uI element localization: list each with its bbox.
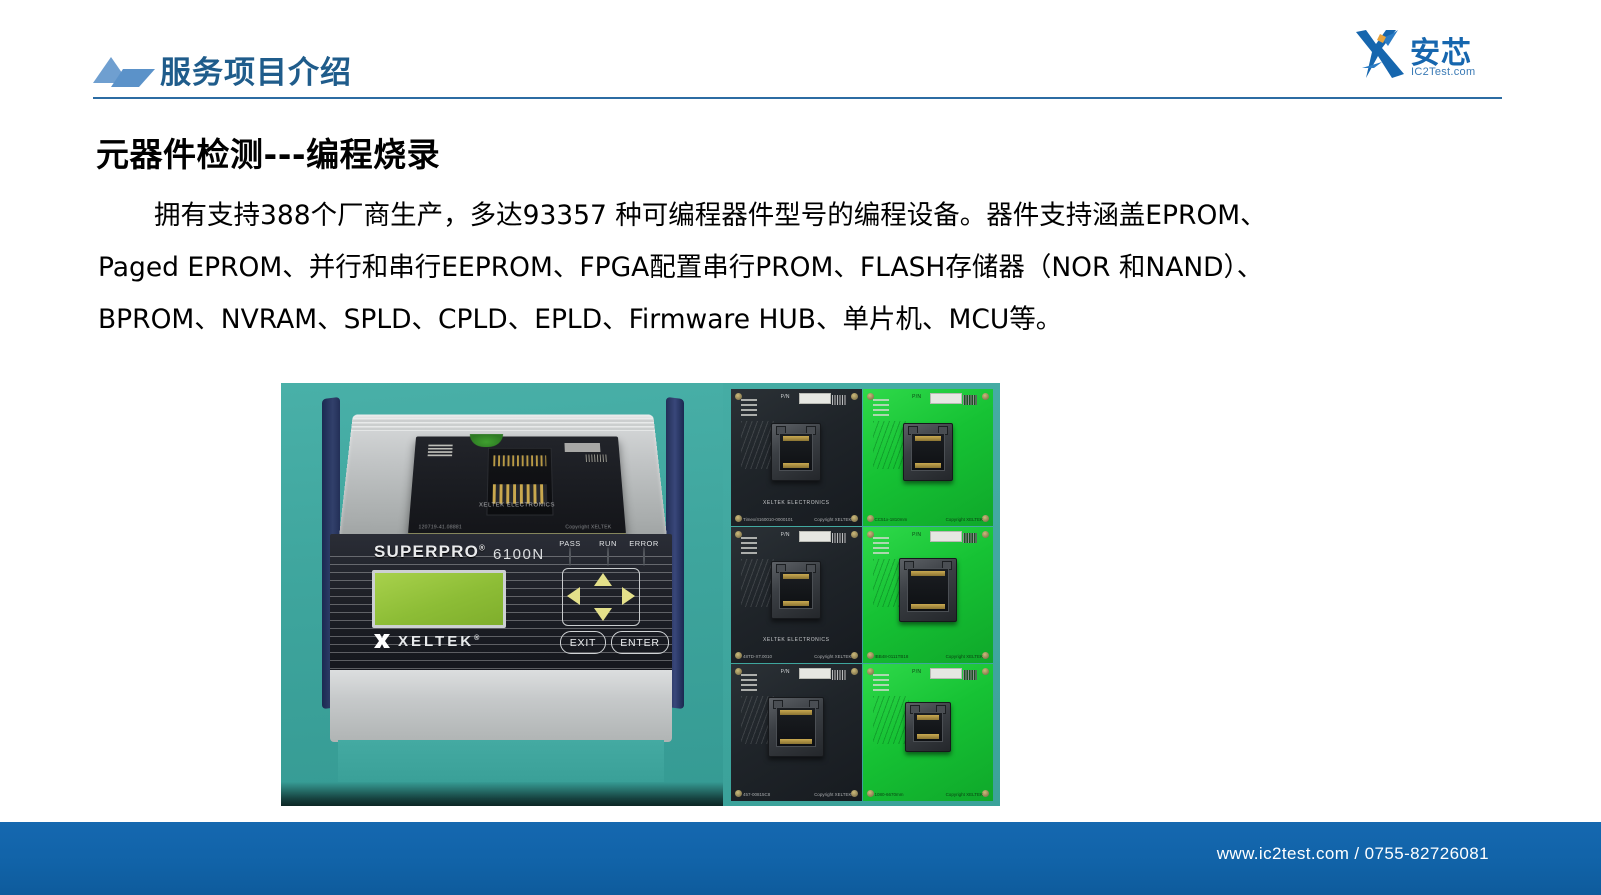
adapter-boards-photo: P/N XELTEK ELECTRONICS Timex/4160010-000…	[723, 383, 1000, 806]
superpro-device: XELTEK ELECTRONICS 120719-41.08881 Copyr…	[308, 396, 694, 796]
device-top-ridges	[351, 418, 655, 431]
board-chip-icon	[832, 395, 846, 405]
mounting-hole-icon	[867, 515, 874, 522]
paragraph-line-1: 拥有支持388个厂商生产，多达93357 种可编程器件型号的编程设备。器件支持涵…	[98, 190, 1498, 242]
board-traces	[873, 696, 909, 744]
company-logo: 安芯 IC2Test.com	[1352, 26, 1487, 88]
adapter-label	[564, 443, 600, 452]
led-run: RUN	[590, 539, 626, 566]
board-foot-right: Copyright XELTEK	[946, 517, 983, 522]
led-pass: PASS	[552, 539, 588, 566]
led-error: ERROR	[626, 539, 662, 566]
board-foot-right: Copyright XELTEK	[946, 792, 983, 797]
socket-cavity	[913, 712, 943, 742]
device-top-adapter-module: XELTEK ELECTRONICS 120719-41.08881 Copyr…	[408, 437, 626, 534]
board-foot-right: Copyright XELTEK	[814, 792, 851, 797]
board-foot-left: CC51x-1810mm	[875, 517, 908, 522]
board-led-strip-icon	[873, 399, 889, 417]
board-pn-label: P/N	[912, 394, 921, 400]
mounting-hole-icon	[982, 652, 989, 659]
mounting-hole-icon	[851, 393, 858, 400]
mounting-hole-icon	[851, 668, 858, 675]
board-pn-sticker	[799, 393, 831, 404]
arrow-right-icon[interactable]	[622, 587, 635, 605]
led-run-dot	[607, 547, 609, 566]
socket-contacts-bottom	[780, 739, 812, 744]
board-led-strip-icon	[741, 537, 757, 555]
board-foot-left: 48TD-XT.0010	[743, 654, 772, 659]
device-maker-logo: XELTEK®	[372, 631, 479, 651]
adapter-copyright: Copyright XELTEK	[565, 525, 611, 531]
arrow-up-icon[interactable]	[594, 573, 612, 586]
logo-domain: IC2Test.com	[1411, 66, 1475, 78]
board-pn-label: P/N	[781, 669, 790, 675]
arrow-left-icon[interactable]	[567, 587, 580, 605]
socket-contacts-top	[911, 571, 945, 576]
socket-contacts-bottom	[783, 463, 809, 468]
board-foot-left: IBB48-0111TB18	[875, 654, 909, 659]
board-chip-icon	[832, 533, 846, 543]
mounting-hole-icon	[851, 652, 858, 659]
device-brand-superscript: ®	[479, 543, 486, 552]
socket-cavity	[907, 568, 949, 612]
adapter-board: P/N XELTEK ELECTRONICS 48TD-XT.0010 Copy…	[731, 527, 862, 664]
board-brand-text: XELTEK ELECTRONICS	[763, 500, 830, 506]
adapter-led-strip-icon	[427, 445, 452, 458]
socket-cavity	[779, 433, 813, 471]
socket-contacts-top	[780, 710, 812, 715]
socket-contacts-bottom	[917, 734, 939, 739]
socket-contacts-top	[917, 715, 939, 720]
adapter-board: P/N CC51x-1810mm Copyright XELTEK	[863, 389, 994, 526]
device-maker-text: XELTEK®	[398, 633, 479, 650]
device-front-panel: SUPERPRO® 6100N PASS RUN ERROR	[330, 534, 672, 672]
device-keypad[interactable]	[562, 568, 640, 626]
programmer-photo: XELTEK ELECTRONICS 120719-41.08881 Copyr…	[281, 383, 723, 806]
board-pn-sticker	[799, 668, 831, 679]
device-model-label: 6100N	[493, 546, 545, 563]
board-led-strip-icon	[873, 537, 889, 555]
board-led-strip-icon	[741, 399, 757, 417]
socket-cavity	[776, 707, 816, 747]
adapter-board-grid: P/N XELTEK ELECTRONICS Timex/4160010-000…	[731, 389, 993, 801]
device-lcd-display	[372, 570, 506, 628]
footer-contact-text: www.ic2test.com / 0755-82726081	[1217, 844, 1489, 864]
board-led-strip-icon	[873, 674, 889, 692]
socket-contacts-top	[915, 436, 941, 441]
mounting-hole-icon	[982, 515, 989, 522]
adapter-chip-icon	[586, 455, 607, 463]
paragraph-line-3: BPROM、NVRAM、SPLD、CPLD、EPLD、Firmware HUB、…	[98, 294, 1498, 346]
exit-button[interactable]: EXIT	[560, 631, 606, 654]
socket-contacts-bottom	[915, 463, 941, 468]
board-pn-sticker	[930, 531, 962, 542]
maker-name: XELTEK	[398, 633, 474, 650]
zif-lever-icon	[469, 434, 503, 447]
mounting-hole-icon	[982, 668, 989, 675]
zif-socket	[905, 702, 951, 752]
adapter-part-number: 120719-41.08881	[418, 525, 462, 531]
page-title: 服务项目介绍	[160, 47, 352, 92]
zif-socket	[899, 558, 957, 622]
board-chip-icon	[832, 670, 846, 680]
board-foot-left: Timex/4160010-0000101	[743, 517, 793, 522]
adapter-brand-text: XELTEK ELECTRONICS	[479, 503, 555, 508]
zif-socket	[768, 697, 824, 757]
board-chip-icon	[963, 533, 977, 543]
board-foot-right: Copyright XELTEK	[946, 654, 983, 659]
led-pass-dot	[569, 547, 571, 566]
mounting-hole-icon	[735, 652, 742, 659]
zif-pins-top	[493, 455, 546, 466]
triangle-arrow-icon	[93, 57, 155, 89]
board-pn-label: P/N	[781, 394, 790, 400]
zif-socket	[903, 423, 953, 481]
photo-bottom-shadow	[281, 782, 723, 806]
slide-footer: www.ic2test.com / 0755-82726081	[0, 822, 1601, 895]
mounting-hole-icon	[982, 393, 989, 400]
device-brand-text: SUPERPRO	[374, 542, 479, 561]
header-divider	[93, 97, 1502, 99]
mounting-hole-icon	[982, 790, 989, 797]
adapter-board: P/N 1080-6670mm Copyright XELTEK	[863, 664, 994, 801]
socket-contacts-bottom	[783, 601, 809, 606]
enter-button[interactable]: ENTER	[611, 631, 669, 654]
board-foot-right: Copyright XELTEK	[814, 654, 851, 659]
mounting-hole-icon	[867, 790, 874, 797]
product-photo: XELTEK ELECTRONICS 120719-41.08881 Copyr…	[281, 383, 1000, 806]
socket-contacts-top	[783, 574, 809, 579]
board-brand-text: XELTEK ELECTRONICS	[763, 637, 830, 643]
zif-pins-bottom	[493, 484, 548, 503]
board-pn-label: P/N	[912, 669, 921, 675]
mounting-hole-icon	[735, 790, 742, 797]
board-pn-sticker	[930, 668, 962, 679]
adapter-board: P/N 457-00815C8 Copyright XELTEK	[731, 664, 862, 801]
paragraph-line-2: Paged EPROM、并行和串行EEPROM、FPGA配置串行PROM、FLA…	[98, 242, 1498, 294]
mounting-hole-icon	[851, 790, 858, 797]
zif-socket	[771, 561, 821, 619]
device-led-row: PASS RUN ERROR	[552, 539, 662, 569]
board-foot-right: Copyright XELTEK	[814, 517, 851, 522]
body-paragraph: 拥有支持388个厂商生产，多达93357 种可编程器件型号的编程设备。器件支持涵…	[98, 190, 1498, 346]
board-led-strip-icon	[741, 674, 757, 692]
device-brand-label: SUPERPRO®	[374, 542, 486, 562]
device-base-panel	[330, 670, 672, 742]
maker-superscript: ®	[474, 635, 479, 642]
x-logo-icon	[1352, 28, 1408, 82]
board-foot-left: 457-00815C8	[743, 792, 770, 797]
socket-cavity	[911, 433, 945, 471]
mounting-hole-icon	[851, 515, 858, 522]
board-chip-icon	[963, 670, 977, 680]
device-base-shadow	[338, 740, 664, 782]
mounting-hole-icon	[867, 652, 874, 659]
socket-contacts-top	[783, 436, 809, 441]
adapter-board: P/N XELTEK ELECTRONICS Timex/4160010-000…	[731, 389, 862, 526]
mounting-hole-icon	[851, 531, 858, 538]
arrow-down-icon[interactable]	[594, 608, 612, 621]
board-chip-icon	[963, 395, 977, 405]
board-pn-label: P/N	[912, 532, 921, 538]
board-pn-sticker	[930, 393, 962, 404]
board-pn-sticker	[799, 531, 831, 542]
adapter-board: P/N IBB48-0111TB18 Copyright XELTEK	[863, 527, 994, 664]
zif-socket	[771, 423, 821, 481]
board-pn-label: P/N	[781, 532, 790, 538]
socket-contacts-bottom	[911, 604, 945, 609]
section-title: 元器件检测---编程烧录	[96, 128, 440, 176]
mounting-hole-icon	[982, 531, 989, 538]
xeltek-mark-icon	[372, 631, 392, 651]
board-foot-left: 1080-6670mm	[875, 792, 904, 797]
mounting-hole-icon	[735, 515, 742, 522]
socket-cavity	[779, 571, 813, 609]
led-error-dot	[643, 547, 645, 566]
